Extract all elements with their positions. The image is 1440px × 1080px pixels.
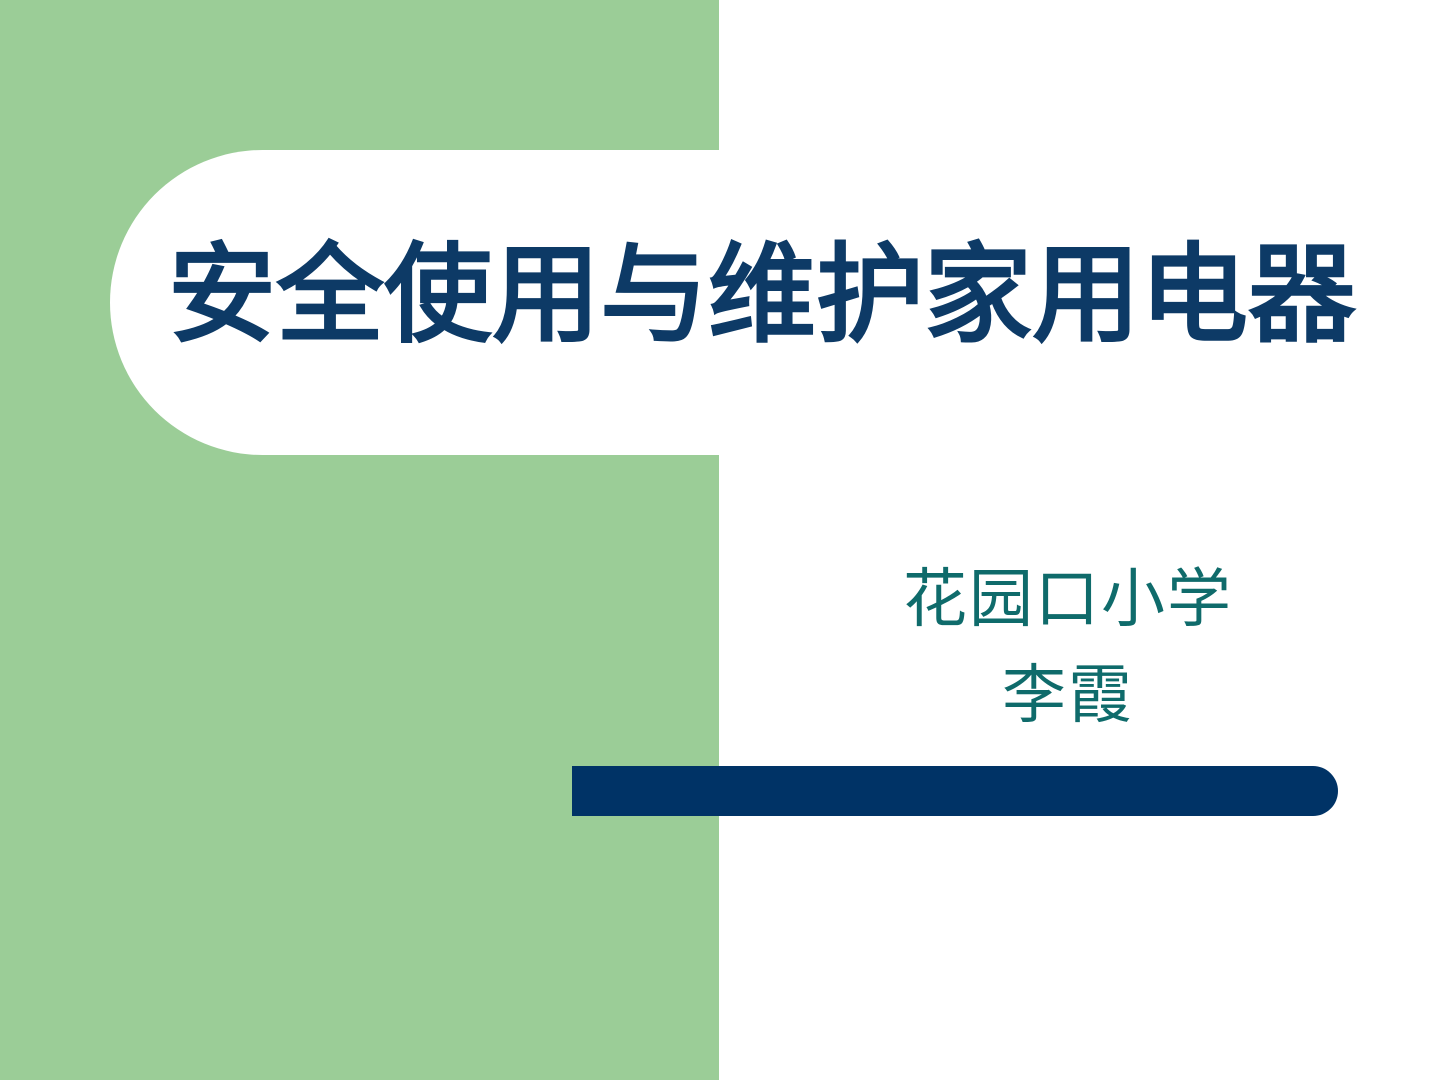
- presentation-slide: 安全使用与维护家用电器 花园口小学 李霞: [0, 0, 1440, 1080]
- subtitle-author: 李霞: [788, 648, 1348, 744]
- subtitle-block: 花园口小学 李霞: [788, 552, 1348, 744]
- page-title: 安全使用与维护家用电器: [168, 232, 1368, 362]
- accent-bar: [572, 766, 1338, 816]
- subtitle-organization: 花园口小学: [788, 552, 1348, 648]
